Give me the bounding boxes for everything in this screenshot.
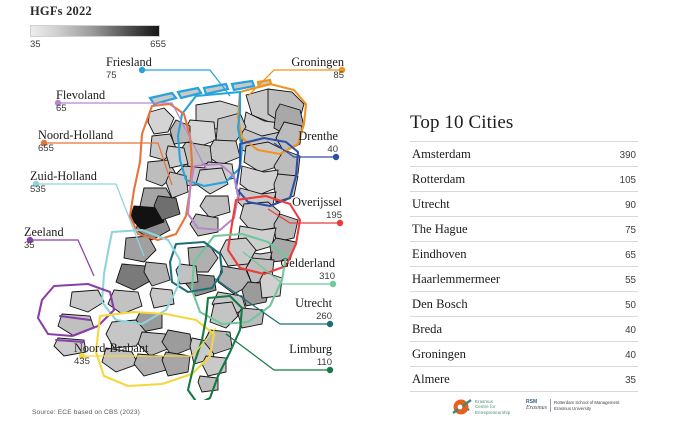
table-row: Groningen40 [410, 341, 638, 366]
table-cell-value: 50 [625, 300, 636, 311]
table-cell-city: Amsterdam [412, 147, 471, 162]
table-row: Eindhoven65 [410, 241, 638, 266]
rsm-divider [550, 399, 551, 412]
table-cell-value: 40 [625, 325, 636, 336]
table-row: The Hague75 [410, 216, 638, 241]
region-label-gelderland: Gelderland 310 [238, 257, 335, 283]
ece-logo: Erasmus Centre for Entrepreneurship [452, 398, 510, 416]
table-title: Top 10 Cities [410, 112, 638, 141]
table-body: Amsterdam390Rotterdam105Utrecht90The Hag… [410, 141, 638, 392]
rsm-script-word: Erasmus [526, 405, 547, 412]
infographic-root: HGFs 2022 35 655 .muni{stroke:#111;strok… [0, 0, 675, 427]
region-label-drenthe: Drenthe 40 [242, 130, 338, 156]
table-row: Breda40 [410, 316, 638, 341]
table-cell-city: Breda [412, 322, 442, 337]
region-label-friesland: Friesland 75 [106, 56, 152, 82]
region-label-zuid-holland: Zuid-Holland 535 [30, 170, 97, 196]
table-cell-city: Groningen [412, 347, 466, 362]
region-label-utrecht: Utrecht 260 [242, 297, 332, 323]
table-row: Den Bosch50 [410, 291, 638, 316]
region-label-groningen: Groningen 85 [248, 56, 344, 82]
table-cell-value: 55 [625, 275, 636, 286]
rsm-mark: RSM Erasmus [526, 399, 547, 412]
table-cell-city: Den Bosch [412, 297, 468, 312]
region-label-limburg: Limburg 110 [244, 343, 332, 369]
table-cell-value: 35 [625, 375, 636, 386]
table-cell-city: Rotterdam [412, 172, 465, 187]
netherlands-choropleth-map: .muni{stroke:#111;stroke-width:.9;} .pro… [0, 0, 400, 400]
region-label-overijssel: Overijssel 195 [244, 196, 342, 222]
table-cell-value: 390 [620, 150, 636, 161]
region-label-zeeland: Zeeland 35 [24, 226, 64, 252]
table-cell-value: 65 [625, 250, 636, 261]
table-cell-value: 75 [625, 225, 636, 236]
table-cell-city: Utrecht [412, 197, 450, 212]
top-cities-table: Top 10 Cities Amsterdam390Rotterdam105Ut… [410, 112, 638, 392]
table-cell-city: The Hague [412, 222, 468, 237]
ece-mark-icon [452, 398, 472, 416]
source-note: Source: ECE based on CBS (2023) [32, 409, 140, 416]
table-row: Haarlemmermeer55 [410, 266, 638, 291]
ece-logo-text: Erasmus Centre for Entrepreneurship [475, 399, 510, 416]
region-label-flevoland: Flevoland 65 [56, 89, 105, 115]
table-cell-value: 105 [620, 175, 636, 186]
table-row: Rotterdam105 [410, 166, 638, 191]
table-row: Amsterdam390 [410, 141, 638, 166]
table-row: Almere35 [410, 366, 638, 392]
table-cell-city: Haarlemmermeer [412, 272, 500, 287]
table-cell-value: 40 [625, 350, 636, 361]
table-cell-value: 90 [625, 200, 636, 211]
rsm-logo-text: Rotterdam School of Management Erasmus U… [554, 400, 619, 411]
table-cell-city: Almere [412, 372, 450, 387]
table-cell-city: Eindhoven [412, 247, 467, 262]
logo-strip: Erasmus Centre for Entrepreneurship RSM … [452, 397, 642, 425]
region-label-noord-holland: Noord-Holland 655 [38, 129, 113, 155]
table-row: Utrecht90 [410, 191, 638, 216]
region-label-noord-brabant: Noord-Brabant 435 [74, 342, 148, 368]
rsm-logo: RSM Erasmus Rotterdam School of Manageme… [526, 399, 619, 412]
